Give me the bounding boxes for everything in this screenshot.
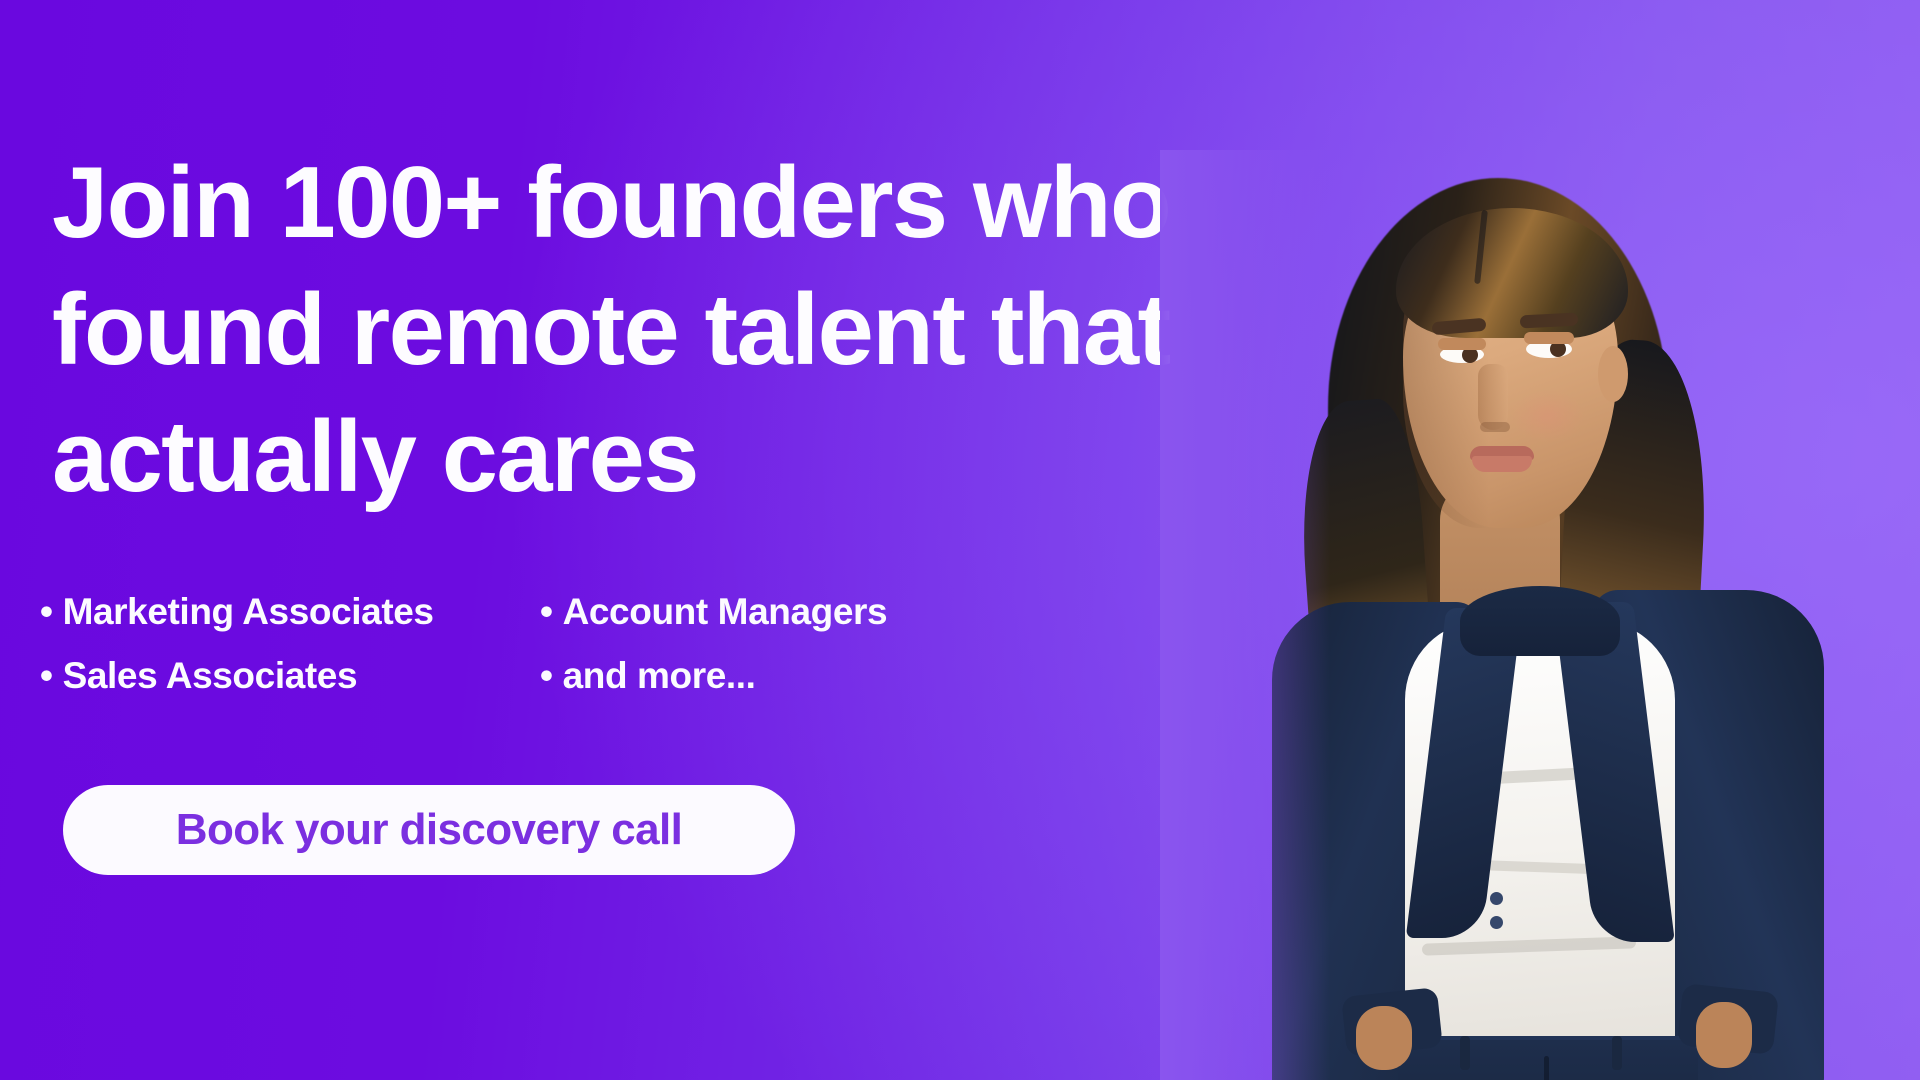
blazer-button	[1490, 892, 1503, 905]
belt-loop	[1460, 1036, 1470, 1070]
role-list: • Marketing Associates • Sales Associate…	[40, 580, 1180, 708]
presenter-photo	[1160, 150, 1920, 1080]
page-title: Join 100+ founders who found remote tale…	[52, 140, 1232, 521]
eyelid-left	[1438, 338, 1486, 350]
list-item: • Account Managers	[540, 580, 1100, 644]
list-item-label: and more...	[563, 644, 756, 708]
nostril	[1480, 422, 1510, 432]
book-discovery-call-button[interactable]: Book your discovery call	[63, 785, 795, 875]
bullet-dot-icon: •	[540, 580, 553, 644]
photo-edge-fade	[1160, 150, 1330, 1080]
belt-loop	[1612, 1036, 1622, 1070]
nose	[1478, 364, 1508, 430]
role-list-column-left: • Marketing Associates • Sales Associate…	[40, 580, 540, 708]
role-list-column-right: • Account Managers • and more...	[540, 580, 1100, 708]
bullet-dot-icon: •	[40, 580, 53, 644]
eyelid-right	[1524, 332, 1574, 344]
hand-left	[1356, 1006, 1412, 1070]
bullet-dot-icon: •	[40, 644, 53, 708]
list-item: • Marketing Associates	[40, 580, 540, 644]
list-item-label: Marketing Associates	[63, 580, 434, 644]
hero-banner: Join 100+ founders who found remote tale…	[0, 0, 1920, 1080]
list-item: • and more...	[540, 644, 1100, 708]
list-item-label: Account Managers	[563, 580, 888, 644]
headline-line-2: found remote talent that	[52, 267, 1232, 394]
trouser-seam	[1544, 1056, 1549, 1080]
headline-line-3: actually cares	[52, 394, 1232, 521]
blazer-collar	[1460, 586, 1620, 656]
lower-lip	[1472, 456, 1532, 472]
headline-line-1: Join 100+ founders who	[52, 140, 1232, 267]
ear	[1598, 346, 1628, 402]
cheek-blush	[1512, 390, 1584, 442]
hand-right	[1696, 1002, 1752, 1068]
blazer-button	[1490, 916, 1503, 929]
bullet-dot-icon: •	[540, 644, 553, 708]
list-item: • Sales Associates	[40, 644, 540, 708]
list-item-label: Sales Associates	[63, 644, 358, 708]
